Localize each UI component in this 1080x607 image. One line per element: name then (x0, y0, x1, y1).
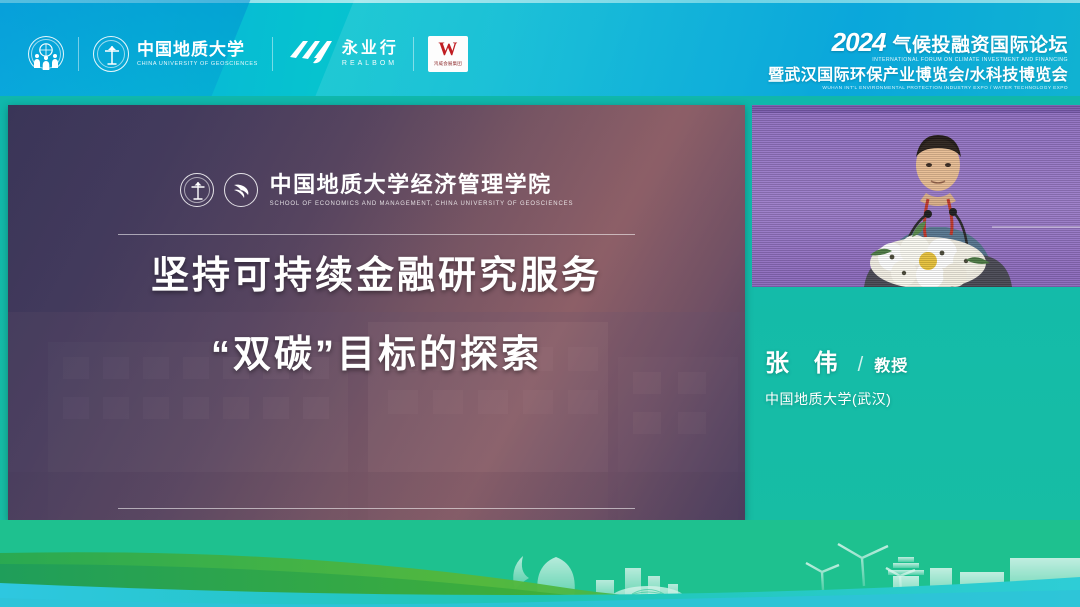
people-globe-icon (28, 36, 64, 72)
forum-title-block: 2024 气候投融资国际论坛 INTERNATIONAL FORUM ON CL… (768, 30, 1068, 92)
forum-title-cn: 气候投融资国际论坛 (892, 36, 1068, 55)
speaker-video-feed[interactable] (752, 105, 1080, 287)
presentation-slide[interactable]: 中国地质大学经济管理学院 SCHOOL OF ECONOMICS AND MAN… (8, 105, 745, 522)
broadcast-stage: 中国地质大学 CHINA UNIVERSITY OF GEOSCIENCES 永… (0, 0, 1080, 607)
school-bird-icon (224, 173, 258, 207)
hongwei-w-icon: W (438, 40, 457, 59)
hongwei-caption: 鸿威会展集团 (434, 61, 462, 67)
green-wave-graphic (0, 520, 1080, 607)
hongwei-logo-cell: W 鸿威会展集团 (414, 30, 482, 78)
cug-name-cn: 中国地质大学 (137, 41, 258, 59)
speaker-organization: 中国地质大学(武汉) (765, 389, 1065, 409)
school-name-en: SCHOOL OF ECONOMICS AND MANAGEMENT, CHIN… (270, 201, 574, 207)
slide-title-line1: 坚持可持续金融研究服务 (8, 257, 745, 295)
forum-subtitle-en: WUHAN INT'L ENVIRONMENTAL PROTECTION IND… (768, 87, 1068, 92)
speaker-video-frame (752, 105, 1080, 287)
speaker-role: 教授 (874, 359, 908, 375)
bottom-graphic-band (0, 520, 1080, 607)
school-logo-lockup: 中国地质大学经济管理学院 SCHOOL OF ECONOMICS AND MAN… (8, 173, 745, 207)
speaker-nameplate: 张 伟 / 教授 中国地质大学(武汉) (765, 352, 1065, 409)
slide-title-line2: “双碳”目标的探索 (8, 336, 745, 374)
forum-subtitle-cn: 暨武汉国际环保产业博览会/水科技博览会 (768, 68, 1068, 84)
school-seal-icon (180, 173, 214, 207)
university-seal-icon (93, 36, 129, 72)
realbom-mark-icon (287, 37, 333, 72)
realbom-name-en: REALBOM (342, 60, 399, 67)
nameplate-separator: / (858, 354, 864, 377)
cug-name-en: CHINA UNIVERSITY OF GEOSCIENCES (137, 61, 258, 67)
slide-divider-bottom (118, 508, 635, 509)
sponsor-logo-bar: 中国地质大学 CHINA UNIVERSITY OF GEOSCIENCES 永… (14, 30, 482, 78)
cug-university-logo: 中国地质大学 CHINA UNIVERSITY OF GEOSCIENCES (79, 30, 272, 78)
hongwei-logo-box: W 鸿威会展集团 (428, 36, 468, 72)
forum-title-en: INTERNATIONAL FORUM ON CLIMATE INVESTMEN… (768, 58, 1068, 63)
realbom-logo: 永业行 REALBOM (273, 30, 413, 78)
speaker-name: 张 伟 (765, 352, 847, 376)
organizer-emblem-logo (14, 30, 78, 78)
school-name-cn: 中国地质大学经济管理学院 (270, 173, 574, 196)
slide-divider-top (118, 234, 635, 235)
forum-year: 2024 (832, 30, 886, 55)
realbom-name-cn: 永业行 (342, 41, 399, 58)
